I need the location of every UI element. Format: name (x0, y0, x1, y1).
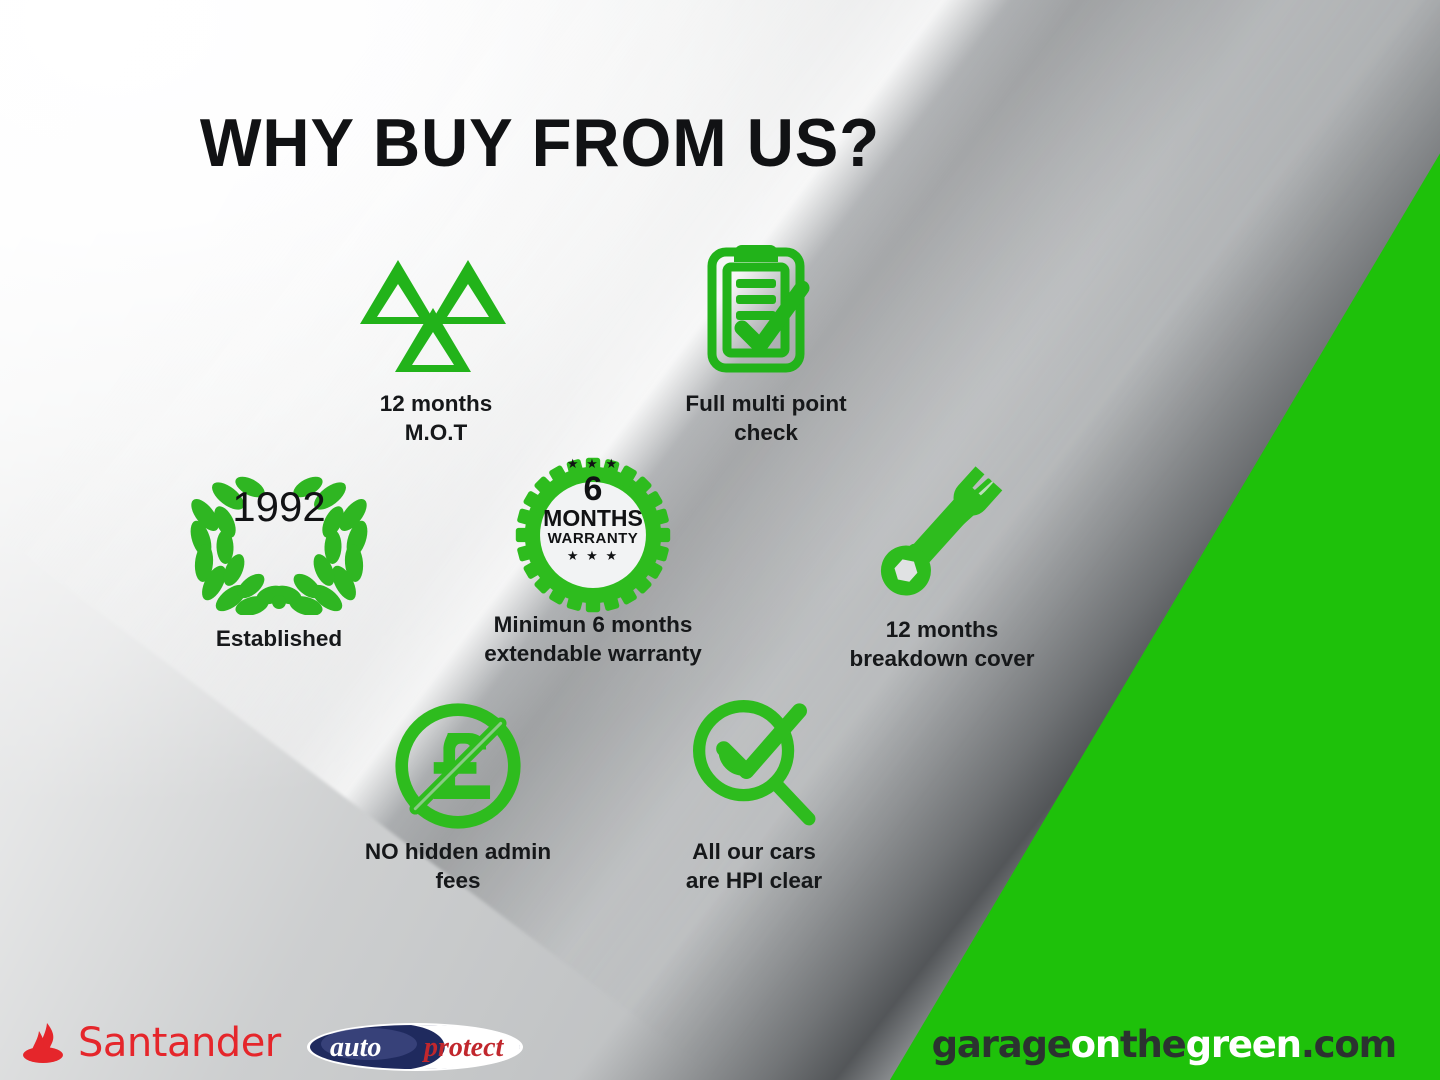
feature-breakdown: 12 months breakdown cover (818, 442, 1066, 674)
mot-triangles-icon (356, 248, 516, 384)
feature-multipoint-check: Full multi point check (640, 232, 892, 448)
autoprotect-logo: auto protect (306, 1022, 524, 1072)
hpi-icon-box (628, 692, 880, 832)
no-fees-icon-box (330, 700, 586, 832)
magnifier-check-icon (680, 692, 828, 832)
warranty-months-label: MONTHS (438, 507, 748, 530)
clipboard-check-icon (698, 234, 834, 384)
feature-hpi-caption: All our cars are HPI clear (628, 838, 880, 896)
feature-fees-caption: NO hidden admin fees (330, 838, 586, 896)
website-part-garage: garage (932, 1023, 1071, 1066)
warranty-warranty-label: WARRANTY (438, 531, 748, 546)
warranty-icon-box: ★ ★ ★ 6 MONTHS WARRANTY ★ ★ ★ (438, 445, 748, 605)
santander-wordmark: Santander (78, 1023, 281, 1063)
clipboard-icon-box (640, 232, 892, 384)
feature-established: 1992 Established (160, 455, 398, 654)
laurel-wreath-icon (175, 457, 383, 615)
laurel-icon-box: 1992 (160, 455, 398, 615)
feature-no-admin-fees: NO hidden admin fees (330, 700, 586, 896)
tools-icon-box (818, 442, 1066, 614)
feature-mot-caption: 12 months M.O.T (318, 390, 554, 448)
feature-warranty-caption: Minimun 6 months extendable warranty (438, 611, 748, 669)
autoprotect-logo-icon: auto protect (306, 1022, 524, 1072)
autoprotect-protect-text: protect (422, 1032, 505, 1063)
santander-logo: Santander (22, 1022, 281, 1064)
feature-hpi-clear: All our cars are HPI clear (628, 692, 880, 896)
autoprotect-auto-text: auto (330, 1032, 381, 1063)
feature-check-caption: Full multi point check (640, 390, 892, 448)
feature-warranty: ★ ★ ★ 6 MONTHS WARRANTY ★ ★ ★ Minimun 6 … (438, 445, 748, 669)
established-year: 1992 (160, 483, 398, 531)
warranty-stars-bottom: ★ ★ ★ (438, 549, 748, 562)
warranty-number: 6 (438, 472, 748, 506)
website-wordmark[interactable]: garageonthegreen.com (932, 1026, 1396, 1063)
poster-canvas: WHY BUY FROM US? 12 months M.O.T (0, 0, 1440, 1080)
website-part-on: on (1071, 1023, 1120, 1066)
website-part-green: green (1186, 1023, 1301, 1066)
feature-established-caption: Established (160, 625, 398, 654)
website-part-the: the (1120, 1023, 1186, 1066)
warranty-stars-top: ★ ★ ★ (438, 457, 748, 470)
website-part-com: .com (1301, 1023, 1396, 1066)
wrench-screwdriver-icon (847, 444, 1037, 614)
page-title: WHY BUY FROM US? (22, 104, 1059, 182)
mot-icon-box (318, 244, 554, 384)
feature-mot: 12 months M.O.T (318, 244, 554, 448)
feature-breakdown-caption: 12 months breakdown cover (818, 616, 1066, 674)
santander-flame-icon (22, 1022, 68, 1064)
no-pound-fees-icon (390, 700, 526, 832)
